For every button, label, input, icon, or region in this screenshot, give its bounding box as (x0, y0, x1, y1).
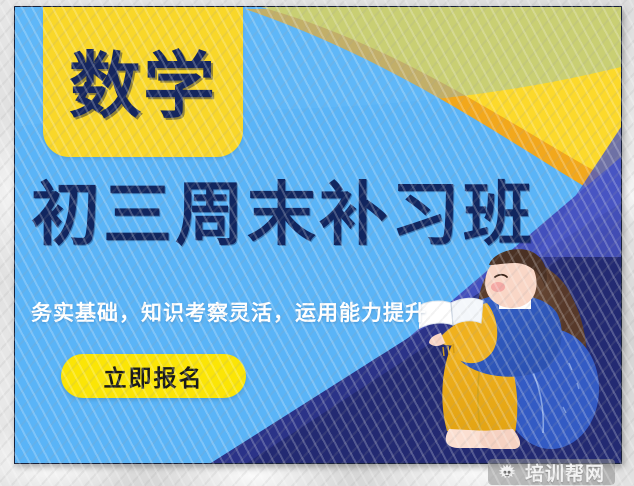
subject-badge: 数学 (43, 6, 243, 157)
site-watermark: 培训帮网 (488, 459, 615, 485)
banner-subtitle: 务实基础，知识考察灵活，运用能力提升 (31, 297, 427, 327)
site-watermark-label: 培训帮网 (525, 459, 605, 486)
banner-headline: 初三周末补习班 (31, 179, 615, 251)
enroll-now-button[interactable]: 立即报名 (61, 354, 246, 398)
enroll-now-label: 立即报名 (104, 359, 204, 393)
cheek-blush (491, 282, 505, 292)
course-promo-banner: 数学 初三周末补习班 务实基础，知识考察灵活，运用能力提升 立即报名 (14, 6, 622, 464)
screenshot-canvas: 数学 初三周末补习班 务实基础，知识考察灵活，运用能力提升 立即报名 培训帮网 (0, 0, 634, 486)
foot-right (480, 429, 521, 449)
woman-reading-illustration (419, 243, 621, 464)
owl-face-icon (496, 462, 518, 482)
subject-badge-label: 数学 (69, 50, 217, 122)
book-page-right (451, 298, 483, 325)
